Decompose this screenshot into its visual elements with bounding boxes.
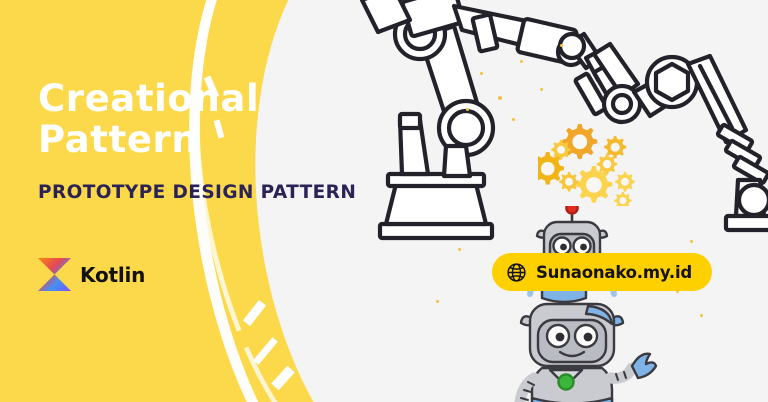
paint-speckle [466,108,469,111]
url-badge[interactable]: Sunaonako.my.id [492,253,712,291]
globe-icon [506,262,527,283]
paint-speckle [520,60,523,63]
paint-speckle [690,240,693,243]
banner: Creational Pattern PROTOTYPE DESIGN PATT… [0,0,768,402]
paint-speckle [560,44,563,47]
url-badge-text: Sunaonako.my.id [536,263,692,282]
gears-cluster-icon [538,122,646,206]
title-line-1: Creational [38,78,358,119]
kotlin-logo-icon [38,258,71,291]
title-line-2: Pattern [38,119,358,160]
paint-speckle [458,248,461,251]
paint-speckle [512,118,515,121]
page-title: Creational Pattern [38,78,358,160]
robot-characters-icon [506,206,658,402]
paint-speckle [480,72,483,75]
paint-speckle [436,300,439,303]
paint-speckle [498,96,502,100]
paint-speckle [700,314,703,317]
paint-speckle [620,150,623,153]
page-subtitle: PROTOTYPE DESIGN PATTERN [38,182,358,204]
headline-block: Creational Pattern PROTOTYPE DESIGN PATT… [38,78,358,204]
kotlin-brand: Kotlin [38,258,145,291]
kotlin-wordmark: Kotlin [80,263,145,287]
paint-speckle [540,88,543,91]
